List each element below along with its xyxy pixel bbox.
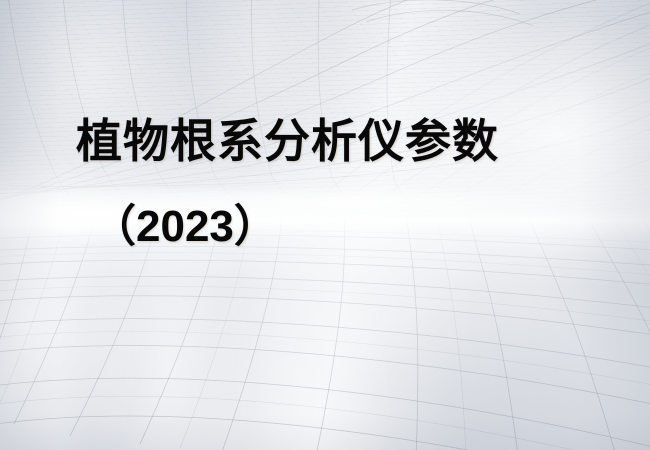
slide-title-primary: 植物根系分析仪参数 (0, 118, 650, 174)
slide-title-year: （2023） (0, 205, 650, 259)
presentation-title-slide: 植物根系分析仪参数 （2023） (0, 0, 650, 450)
title-block: 植物根系分析仪参数 （2023） (0, 118, 650, 259)
